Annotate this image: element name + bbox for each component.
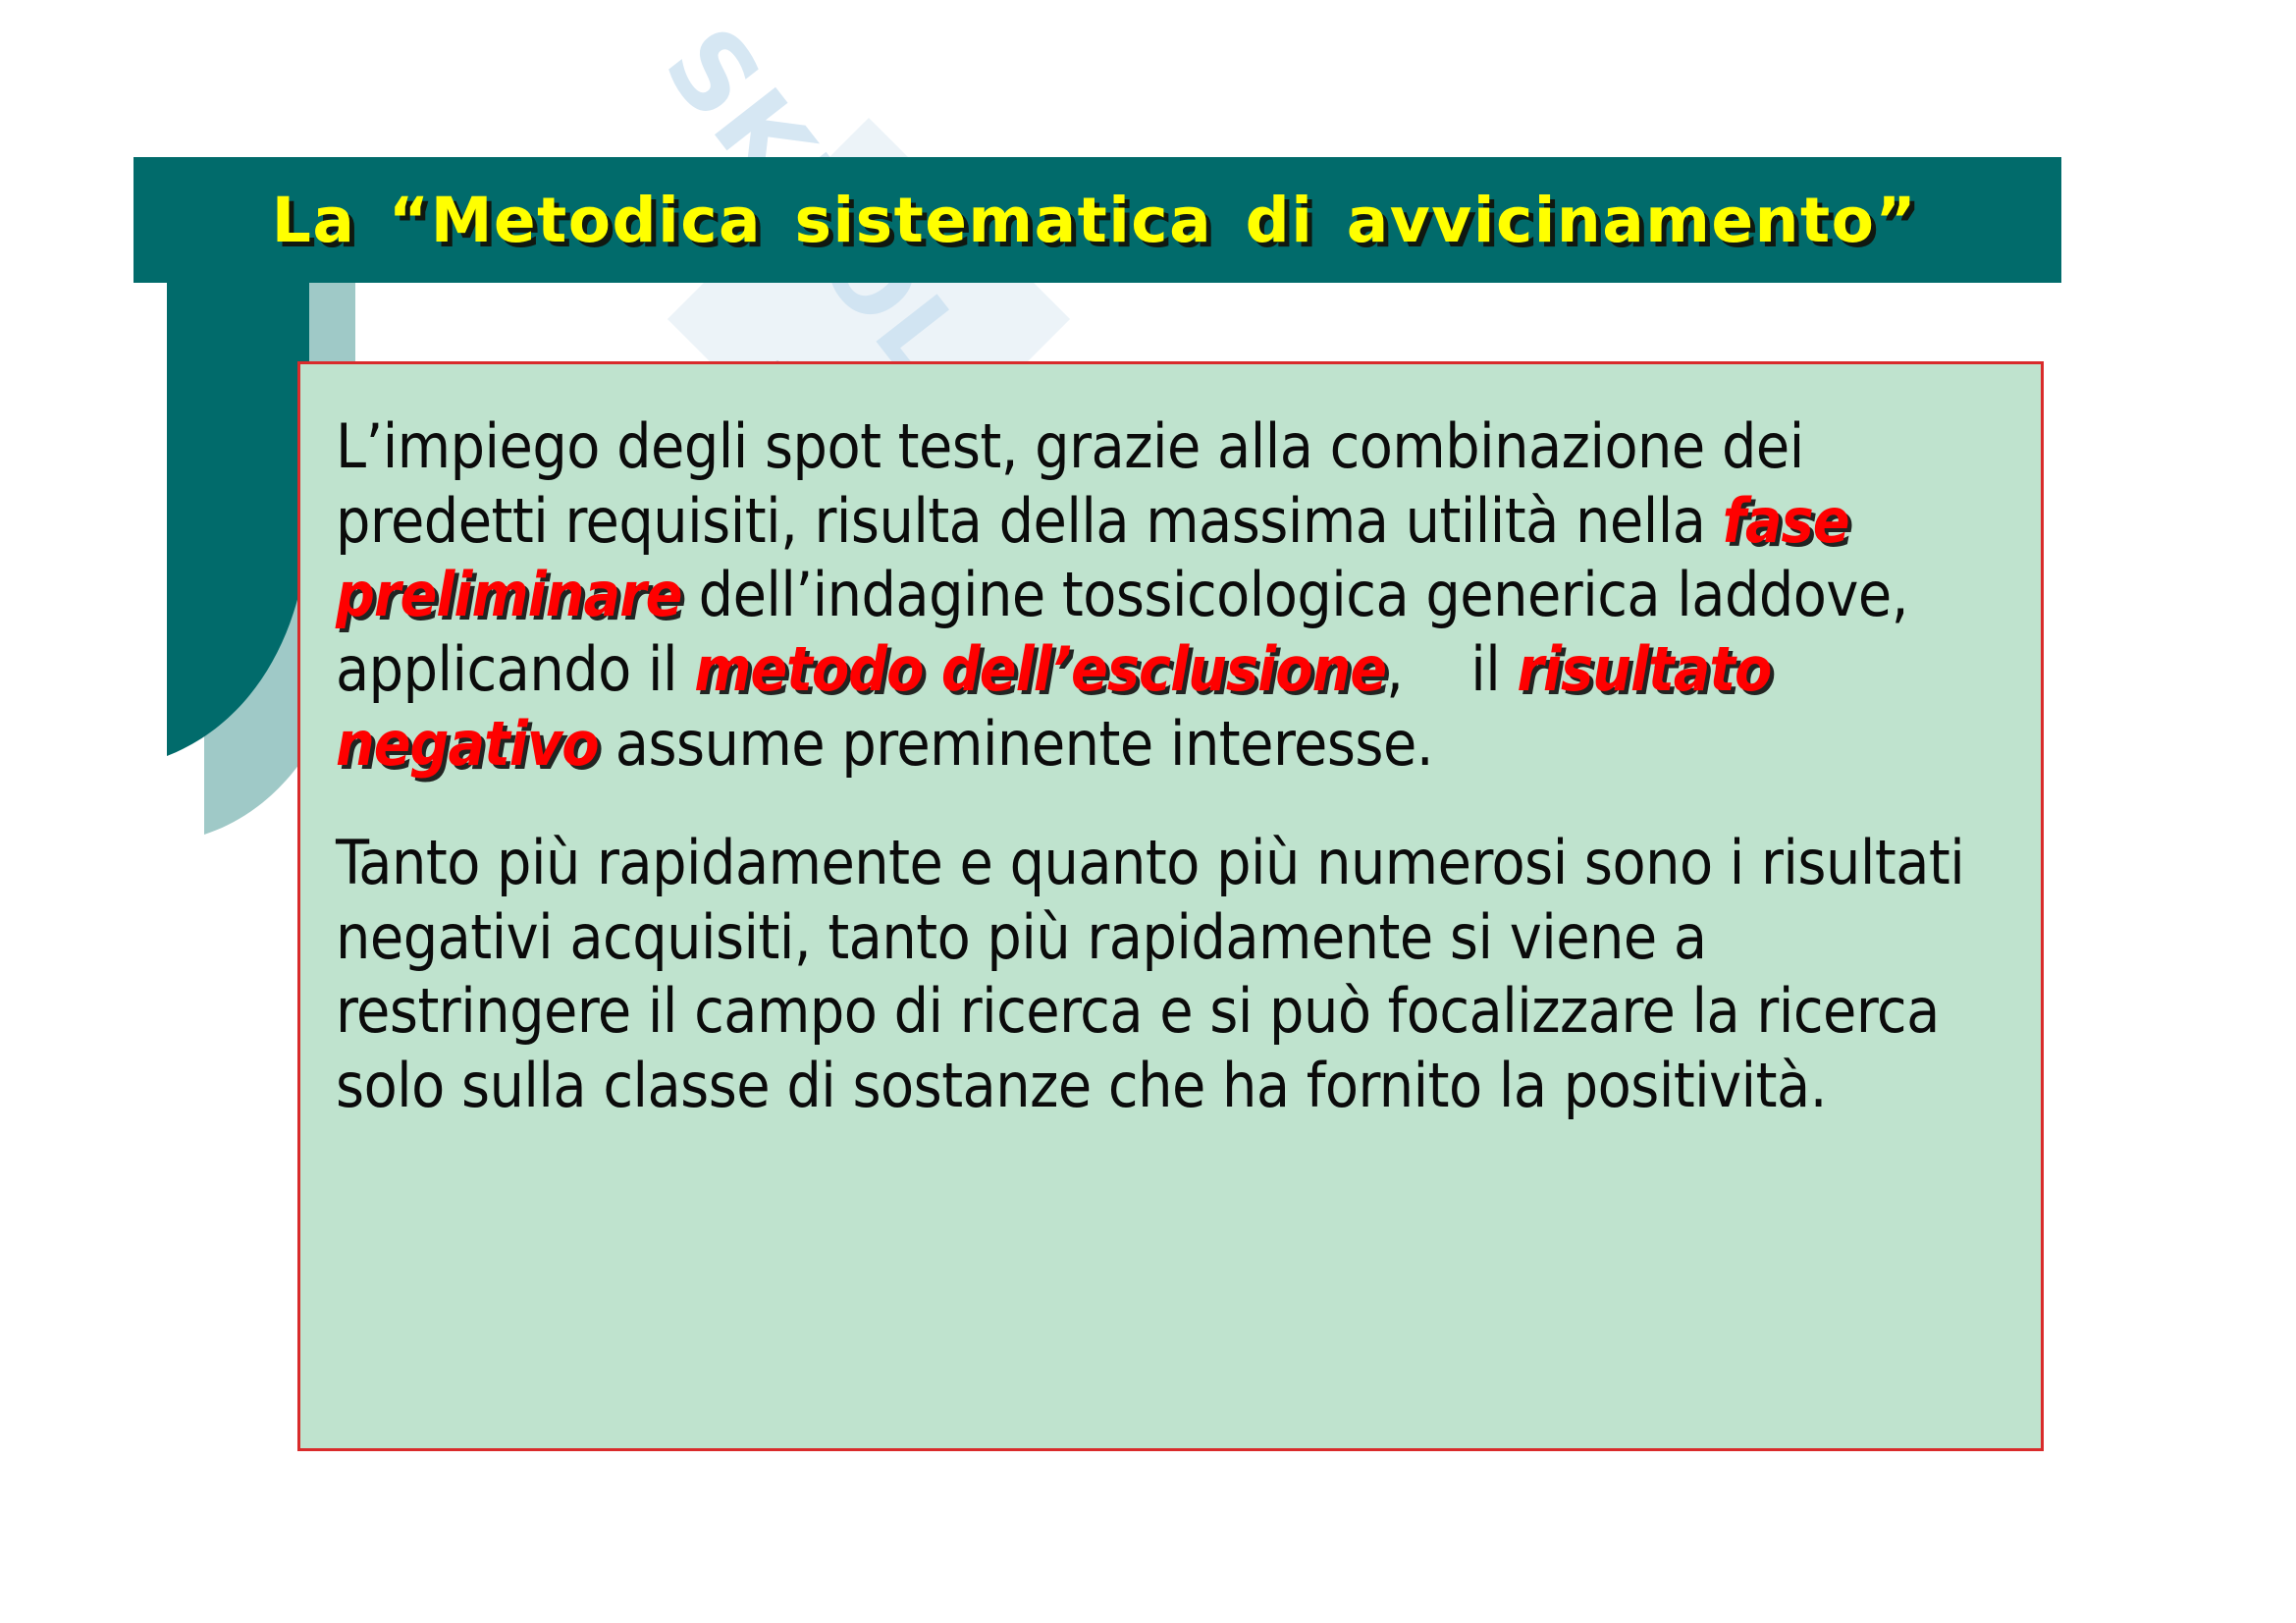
emphasis-metodo-esclusione: metodo dell’esclusione — [694, 633, 1386, 705]
paragraph-1-segment-4: il — [1470, 633, 1517, 705]
paragraph-1: L’impiego degli spot test, grazie alla c… — [336, 409, 2005, 781]
paragraph-2: Tanto più rapidamente e quanto più numer… — [336, 826, 2005, 1123]
title-band: La “Metodica sistematica di avvicinament… — [133, 157, 2061, 283]
slide-canvas: SKUOLA.net il paradiso dello studente La… — [0, 0, 2296, 1623]
paragraph-1-segment-3: , — [1386, 633, 1403, 705]
paragraph-1-segment-1: L’impiego degli spot test, grazie alla c… — [336, 410, 1804, 557]
paragraph-1-segment-5: assume preminente interesse. — [599, 708, 1433, 780]
page-title: La “Metodica sistematica di avvicinament… — [133, 157, 2061, 283]
paragraph-1-gap — [1403, 633, 1470, 705]
content-box: L’impiego degli spot test, grazie alla c… — [297, 361, 2044, 1451]
